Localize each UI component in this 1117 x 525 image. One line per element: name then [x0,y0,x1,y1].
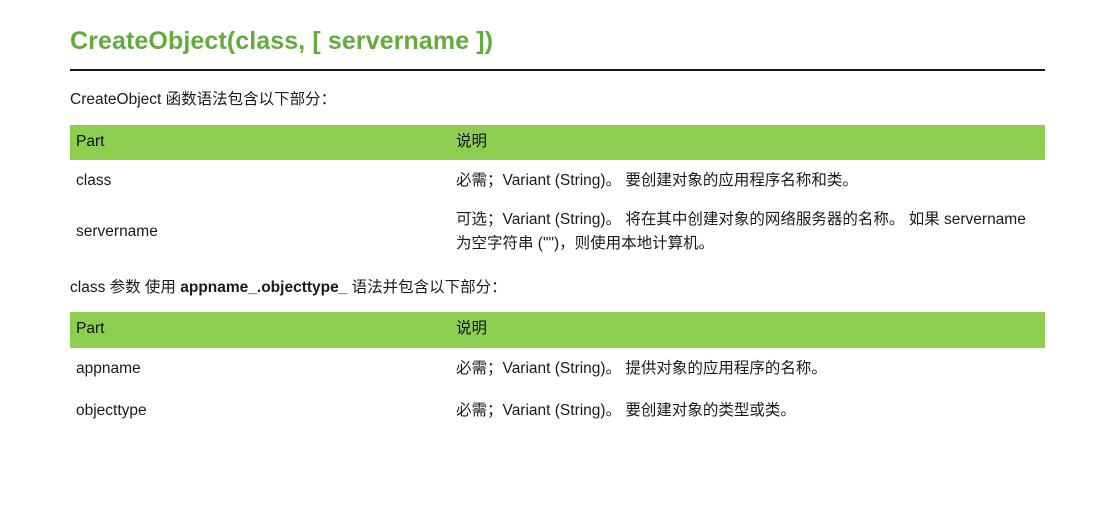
part-description-appname: 必需；Variant (String)。 提供对象的应用程序的名称。 [450,348,1045,390]
class-parts-table: Part 说明 appname 必需；Variant (String)。 提供对… [70,312,1045,432]
page-title: CreateObject(class, [ servername ]) [70,26,1117,57]
part-name-class: class [70,160,450,202]
class-syntax-code: appname_.objecttype_ [180,279,347,296]
column-header-description: 说明 [450,125,1045,160]
table-header-row: Part 说明 [70,125,1045,160]
table-header-row: Part 说明 [70,312,1045,347]
part-description-class: 必需；Variant (String)。 要创建对象的应用程序名称和类。 [450,160,1045,202]
class-syntax-text-after: 语法并包含以下部分： [347,279,506,296]
syntax-parts-table: Part 说明 class 必需；Variant (String)。 要创建对象… [70,125,1045,265]
table-row: objecttype 必需；Variant (String)。 要创建对象的类型… [70,390,1045,432]
table-row: class 必需；Variant (String)。 要创建对象的应用程序名称和… [70,160,1045,202]
intro-paragraph: CreateObject 函数语法包含以下部分： [0,71,1117,111]
part-description-servername: 可选；Variant (String)。 将在其中创建对象的网络服务器的名称。 … [450,202,1045,264]
column-header-part: Part [70,125,450,160]
class-syntax-paragraph: class 参数 使用 appname_.objecttype_ 语法并包含以下… [0,264,1117,299]
part-description-objecttype: 必需；Variant (String)。 要创建对象的类型或类。 [450,390,1045,432]
column-header-description: 说明 [450,312,1045,347]
table-row: servername 可选；Variant (String)。 将在其中创建对象… [70,202,1045,264]
part-name-servername: servername [70,202,450,264]
documentation-page: CreateObject(class, [ servername ]) Crea… [0,0,1117,525]
table-row: appname 必需；Variant (String)。 提供对象的应用程序的名… [70,348,1045,390]
column-header-part: Part [70,312,450,347]
part-name-appname: appname [70,348,450,390]
part-name-objecttype: objecttype [70,390,450,432]
class-syntax-text-before: class 参数 使用 [70,279,180,296]
title-block: CreateObject(class, [ servername ]) [0,0,1117,71]
